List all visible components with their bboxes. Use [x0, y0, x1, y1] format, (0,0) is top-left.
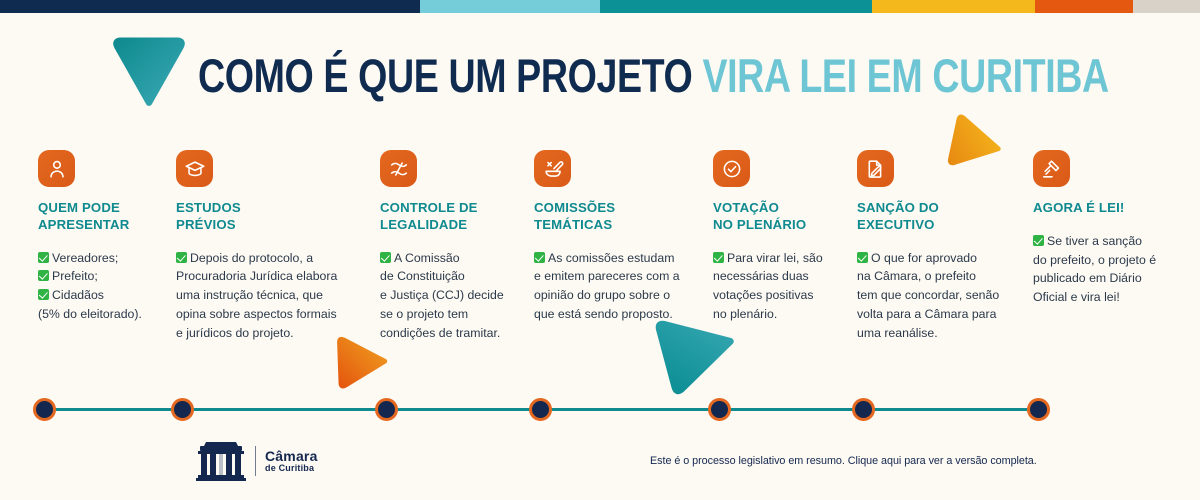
topbar-segment-light-teal [420, 0, 600, 13]
top-color-bar [0, 0, 1200, 13]
step-title: AGORA É LEI! [1033, 200, 1183, 217]
step-bullet: A Comissão de Constituição e Justiça (CC… [380, 249, 530, 342]
step-column-3: CONTROLE DE LEGALIDADEA Comissão de Cons… [380, 150, 530, 342]
step-body: O que for aprovado na Câmara, o prefeito… [857, 249, 1017, 342]
step-bullet-text: Para virar lei, são necessárias duas vot… [713, 251, 823, 321]
person-icon [38, 150, 75, 187]
building-icon [196, 440, 246, 482]
check-icon [38, 289, 49, 300]
timeline-dot-2[interactable] [171, 398, 194, 421]
step-title: ESTUDOS PRÉVIOS [176, 200, 361, 234]
check-icon [534, 252, 545, 263]
step-body: Depois do protocolo, a Procuradoria Jurí… [176, 249, 361, 342]
step-bullet-text: Cidadãos [52, 288, 104, 302]
check-icon [1033, 235, 1044, 246]
step-bullet: As comissões estudam e emitem pareceres … [534, 249, 699, 324]
gavel-icon [1033, 150, 1070, 187]
step-column-5: VOTAÇÃO NO PLENÁRIOPara virar lei, são n… [713, 150, 848, 324]
step-bullet-text: A Comissão de Constituição e Justiça (CC… [380, 251, 504, 340]
check-circle-icon [713, 150, 750, 187]
triangle-teal-down-large [113, 35, 185, 107]
logo-wordmark: Câmara de Curitiba [265, 449, 318, 473]
timeline [0, 398, 1200, 422]
step-title: CONTROLE DE LEGALIDADE [380, 200, 530, 234]
check-icon [380, 252, 391, 263]
topbar-segment-beige [1133, 0, 1200, 13]
footer-note[interactable]: Este é o processo legislativo em resumo.… [650, 455, 1037, 467]
step-body: As comissões estudam e emitem pareceres … [534, 249, 699, 324]
signature-icon [857, 150, 894, 187]
document-pen-icon [534, 150, 571, 187]
step-bullet: O que for aprovado na Câmara, o prefeito… [857, 249, 1017, 342]
scales-icon [380, 150, 417, 187]
step-bullet-text: Prefeito; [52, 269, 98, 283]
step-bullet-text: Se tiver a sanção do prefeito, o projeto… [1033, 234, 1156, 304]
step-title: COMISSÕES TEMÁTICAS [534, 200, 699, 234]
page-title-space [692, 49, 702, 102]
camara-logo: Câmara de Curitiba [196, 440, 318, 482]
steps-container: QUEM PODE APRESENTARVereadores;Prefeito;… [0, 150, 1200, 350]
step-column-7: AGORA É LEI!Se tiver a sanção do prefeit… [1033, 150, 1183, 307]
timeline-dot-6[interactable] [852, 398, 875, 421]
step-body: Para virar lei, são necessárias duas vot… [713, 249, 848, 324]
step-bullet: Prefeito; [38, 267, 168, 286]
check-icon [38, 270, 49, 281]
graduation-cap-icon [176, 150, 213, 187]
check-icon [713, 252, 724, 263]
step-title: VOTAÇÃO NO PLENÁRIO [713, 200, 848, 234]
step-bullet-text: Vereadores; [52, 251, 118, 265]
step-body: A Comissão de Constituição e Justiça (CC… [380, 249, 530, 342]
step-bullet: Se tiver a sanção do prefeito, o projeto… [1033, 232, 1183, 307]
infographic-canvas: COMO É QUE UM PROJETO VIRA LEI EM CURITI… [0, 0, 1200, 500]
step-column-1: QUEM PODE APRESENTARVereadores;Prefeito;… [38, 150, 168, 324]
logo-name: Câmara [265, 449, 318, 464]
step-column-2: ESTUDOS PRÉVIOSDepois do protocolo, a Pr… [176, 150, 361, 342]
topbar-segment-yellow [872, 0, 1035, 13]
timeline-dot-7[interactable] [1027, 398, 1050, 421]
logo-subtitle: de Curitiba [265, 464, 318, 473]
step-bullet: Depois do protocolo, a Procuradoria Jurí… [176, 249, 361, 342]
step-bullet: Para virar lei, são necessárias duas vot… [713, 249, 848, 324]
page-title-part1: COMO É QUE UM PROJETO [198, 49, 692, 102]
logo-divider [255, 446, 256, 476]
step-column-6: SANÇÃO DO EXECUTIVOO que for aprovado na… [857, 150, 1017, 342]
step-body: Se tiver a sanção do prefeito, o projeto… [1033, 232, 1183, 307]
step-column-4: COMISSÕES TEMÁTICASAs comissões estudam … [534, 150, 699, 324]
check-icon [857, 252, 868, 263]
timeline-dot-1[interactable] [33, 398, 56, 421]
step-bullet-text: O que for aprovado na Câmara, o prefeito… [857, 251, 999, 340]
check-icon [176, 252, 187, 263]
timeline-dot-4[interactable] [529, 398, 552, 421]
topbar-segment-orange [1035, 0, 1133, 13]
page-title: COMO É QUE UM PROJETO VIRA LEI EM CURITI… [198, 52, 1109, 99]
step-bullet-text: As comissões estudam e emitem pareceres … [534, 251, 680, 321]
step-title: SANÇÃO DO EXECUTIVO [857, 200, 1017, 234]
step-bullet-text: Depois do protocolo, a Procuradoria Jurí… [176, 251, 337, 340]
step-bullet: Vereadores; [38, 249, 168, 268]
step-bullet: Cidadãos [38, 286, 168, 305]
topbar-segment-navy [0, 0, 420, 13]
topbar-segment-teal [600, 0, 872, 13]
check-icon [38, 252, 49, 263]
timeline-dot-5[interactable] [708, 398, 731, 421]
step-body: Vereadores;Prefeito;Cidadãos(5% do eleit… [38, 249, 168, 324]
timeline-dot-3[interactable] [375, 398, 398, 421]
step-tail-text: (5% do eleitorado). [38, 305, 168, 324]
page-title-part2: VIRA LEI EM CURITIBA [702, 49, 1108, 102]
step-title: QUEM PODE APRESENTAR [38, 200, 168, 234]
